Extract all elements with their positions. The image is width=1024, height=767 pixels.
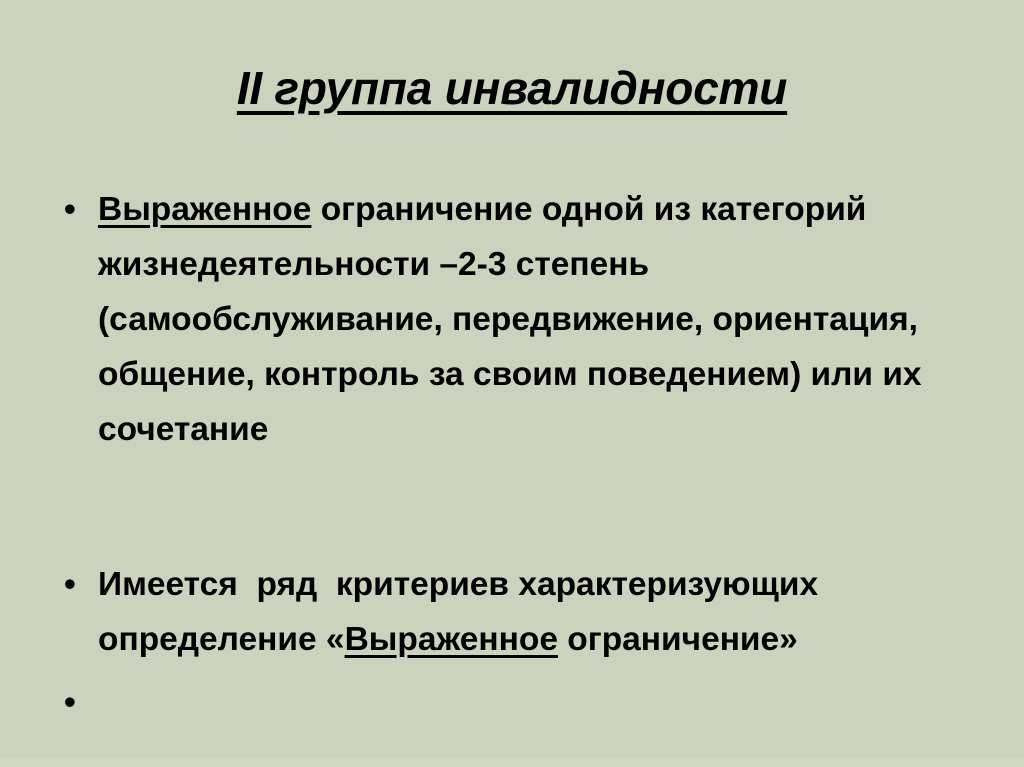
list-item-text bbox=[98, 675, 986, 730]
list-item-text: Имеется ряд критериев характеризующих оп… bbox=[98, 557, 986, 667]
page-title-text: II группа инвалидности bbox=[237, 62, 787, 114]
emphasized-term: Выраженное bbox=[98, 191, 311, 228]
list-item-suffix: ограничение» bbox=[558, 621, 798, 658]
bullet-point-icon: • bbox=[56, 557, 98, 612]
bottom-edge-band bbox=[0, 758, 1024, 767]
list-item: • bbox=[56, 675, 986, 730]
list-item-remainder: ограничение одной из категорий жизнедеят… bbox=[98, 191, 931, 448]
list-item-text: Выраженное ограничение одной из категори… bbox=[98, 182, 986, 457]
slide-canvas: II группа инвалидности • Выраженное огра… bbox=[0, 0, 1024, 767]
slide-body: • Выраженное ограничение одной из катего… bbox=[56, 182, 986, 730]
spacer bbox=[56, 457, 986, 557]
bullet-point-icon: • bbox=[56, 182, 98, 237]
list-item: • Имеется ряд критериев характеризующих … bbox=[56, 557, 986, 667]
list-item: • Выраженное ограничение одной из катего… bbox=[56, 182, 986, 457]
page-title: II группа инвалидности bbox=[0, 62, 1024, 115]
emphasized-term: Выраженное bbox=[345, 621, 558, 658]
bullet-point-icon: • bbox=[56, 675, 98, 730]
